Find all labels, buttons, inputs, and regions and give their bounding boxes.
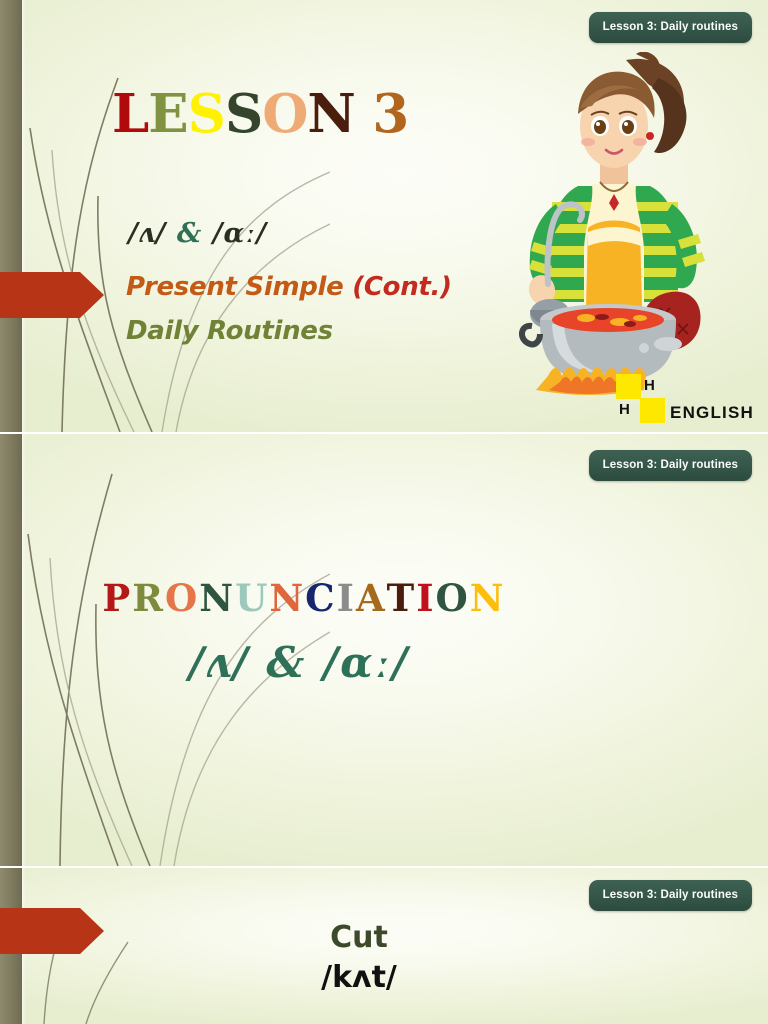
slide-3: Lesson 3: Daily routines Cut /kʌt/ bbox=[0, 868, 768, 1024]
title-letter: O bbox=[262, 88, 307, 141]
lesson-badge: Lesson 3: Daily routines bbox=[589, 12, 752, 43]
heading-letter: N bbox=[470, 576, 506, 620]
red-arrow-marker bbox=[0, 270, 104, 320]
heading-letter: U bbox=[235, 576, 269, 620]
hh-english-logo: H H ENGLISH bbox=[614, 374, 754, 424]
slides-document: Lesson 3: Daily routines LESSON 3 /ʌ/ & … bbox=[0, 0, 768, 1024]
vocabulary-word: Cut bbox=[0, 920, 768, 955]
subtitle-daily-routines: Daily Routines bbox=[126, 316, 333, 346]
ipa-ampersand: & bbox=[177, 218, 202, 249]
woman-cooking-illustration bbox=[508, 52, 708, 400]
title-letter: N bbox=[307, 88, 354, 141]
subtitle-present-simple: Present Simple (Cont.) bbox=[126, 272, 452, 302]
heading-letter: O bbox=[165, 576, 199, 620]
lesson-badge: Lesson 3: Daily routines bbox=[589, 880, 752, 911]
subtitle-paren-text: (Cont.) bbox=[352, 272, 451, 302]
page-title: LESSON 3 bbox=[112, 88, 408, 141]
lesson-badge: Lesson 3: Daily routines bbox=[589, 450, 752, 481]
heading-letter: A bbox=[356, 576, 387, 620]
title-letter: E bbox=[148, 88, 187, 141]
logo-square-top-icon bbox=[616, 374, 641, 399]
pronunciation-heading: PRONUNCIATION bbox=[0, 576, 768, 620]
heading-letter: R bbox=[132, 576, 165, 620]
slide-1: Lesson 3: Daily routines LESSON 3 /ʌ/ & … bbox=[0, 0, 768, 432]
heading-letter: N bbox=[269, 576, 305, 620]
logo-letter-top: H bbox=[644, 378, 655, 393]
heading-letter: I bbox=[416, 576, 435, 620]
title-letter: S bbox=[188, 88, 225, 141]
ipa-left: /ʌ/ bbox=[128, 218, 166, 249]
logo-square-bottom-icon bbox=[640, 398, 665, 423]
logo-wordmark: ENGLISH bbox=[670, 403, 754, 423]
slide-2: Lesson 3: Daily routines PRONUNCIATION /… bbox=[0, 434, 768, 866]
title-letter bbox=[355, 88, 372, 141]
title-letter: 3 bbox=[372, 88, 408, 141]
heading-letter: O bbox=[436, 576, 470, 620]
title-letter: S bbox=[225, 88, 262, 141]
logo-marks: H H bbox=[614, 374, 666, 424]
decorative-grass-lines bbox=[0, 0, 330, 432]
ipa-ampersand: & bbox=[266, 638, 306, 687]
ipa-right: /ɑː/ bbox=[213, 218, 267, 249]
vocabulary-transcription: /kʌt/ bbox=[0, 960, 768, 995]
heading-letter: T bbox=[387, 576, 417, 620]
heading-letter: C bbox=[305, 576, 336, 620]
heading-letter: I bbox=[337, 576, 356, 620]
subtitle-main-text: Present Simple bbox=[126, 272, 352, 302]
ipa-right: /ɑː/ bbox=[323, 638, 410, 687]
logo-letter-bottom: H bbox=[619, 402, 630, 417]
pronunciation-ipa: /ʌ/ & /ɑː/ bbox=[0, 638, 768, 687]
ipa-left: /ʌ/ bbox=[189, 638, 250, 687]
heading-letter: P bbox=[102, 576, 132, 620]
heading-letter: N bbox=[199, 576, 235, 620]
ipa-subtitle: /ʌ/ & /ɑː/ bbox=[128, 218, 267, 249]
title-letter: L bbox=[112, 88, 148, 141]
